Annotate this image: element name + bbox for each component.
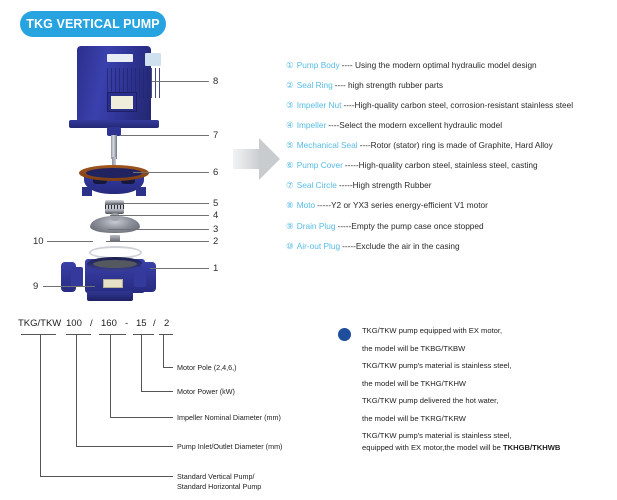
feature-name: Seal Circle [297,181,337,191]
motor-terminal-box [107,92,137,112]
feature-number-icon: ⑦ [286,181,294,191]
feature-item-1: ① Pump Body ---- Using the modern optima… [286,61,616,71]
page-title-bar: TKG VERTICAL PUMP [20,11,166,37]
feature-number-icon: ⑩ [286,242,294,252]
model-label-impeller-dia: Impeller Nominal Diameter (mm) [177,413,281,423]
inlet-flange [61,262,76,292]
model-code-impeller: 160 [101,318,117,329]
feature-number-icon: ⑧ [286,201,294,211]
feature-description: ----Rotor (stator) ring is made of Graph… [360,141,553,151]
callout-line-5 [112,203,209,204]
model-underline-5 [159,334,173,335]
feature-description: ----Select the modern excellent hydrauli… [328,121,502,131]
callout-line-8 [152,81,209,82]
callout-line-1 [150,268,209,269]
model-label-motor-power: Motor Power (kW) [177,387,235,397]
feature-name: Moto [297,201,315,211]
feature-number-icon: ④ [286,121,294,131]
pump-body-nameplate [103,279,123,288]
shaft-part [111,135,117,159]
callout-number-10: 10 [33,237,44,247]
note-line-8-model: TKHGB/TKHWB [503,443,560,452]
impeller-part [90,216,140,233]
model-underline-1 [21,334,56,335]
feature-list: ① Pump Body ---- Using the modern optima… [286,61,616,262]
feature-description: ----High-quality carbon steel, corrosion… [343,101,573,111]
feature-number-icon: ⑨ [286,222,294,232]
feature-item-10: ⑩ Air-out Plug -----Exclude the air in t… [286,242,616,252]
model-designation-diagram: TKG/TKW 100 / 160 - 15 / 2 Motor Pole (2… [0,310,310,490]
feature-item-9: ⑨ Drain Plug -----Empty the pump case on… [286,222,616,232]
variant-notes: TKG/TKW pump equipped with EX motor, the… [338,326,613,461]
feature-name: Seal Ring [297,81,333,91]
model-code-slash-1: / [90,318,93,329]
model-code-prefix: TKG/TKW [18,318,61,329]
model-code-power: 15 [136,318,147,329]
model-label-motor-pole: Motor Pole (2,4,6,) [177,363,237,373]
note-line-1: TKG/TKW pump equipped with EX motor, [362,326,613,335]
feature-number-icon: ⑤ [286,141,294,151]
model-label-standard-vert: Standard Vertical Pump/ [177,472,255,482]
model-drop-line-5 [163,334,164,367]
model-drop-line-1 [40,334,41,476]
note-line-8-text: equipped with EX motor,the model will be [362,443,503,452]
feature-description: ---- high strength rubber parts [335,81,443,91]
feature-name: Drain Plug [297,222,336,232]
callout-number-4: 4 [213,211,218,221]
page-title: TKG VERTICAL PUMP [26,17,159,31]
callout-number-7: 7 [213,131,218,141]
shaft-tip [112,157,116,165]
callout-number-3: 3 [213,225,218,235]
feature-name: Mechanical Seal [297,141,358,151]
model-code-slash-2: / [153,318,156,329]
feature-name: Air-out Plug [297,242,340,252]
pump-cover-leg-right [136,187,146,196]
motor-part [77,46,151,121]
note-line-8: equipped with EX motor,the model will be… [362,443,613,452]
note-line-2: the model will be TKBG/TKBW [362,344,613,353]
feature-item-8: ⑧ Moto -----Y2 or YX3 series energy-effi… [286,201,616,211]
motor-nameplate-secondary [145,53,161,66]
note-line-3: TKG/TKW pump's material is stainless ste… [362,361,613,370]
model-underline-3 [99,334,126,335]
feature-description: -----Y2 or YX3 series energy-efficient V… [317,201,488,211]
pump-cover-part [79,165,149,197]
callout-number-2: 2 [213,237,218,247]
model-label-standard-horiz: Standard Horizontal Pump [177,482,261,492]
callout-line-6 [133,172,209,173]
callout-number-9: 9 [33,282,38,292]
feature-number-icon: ③ [286,101,294,111]
feature-description: -----Exclude the air in the casing [342,242,460,252]
feature-item-6: ⑥ Pump Cover -----High-quality carbon st… [286,161,616,171]
feature-description: ---- Using the modern optimal hydraulic … [342,61,537,71]
feature-name: Impeller [297,121,327,131]
callout-line-7 [120,135,209,136]
callout-line-4 [110,215,209,216]
callout-number-6: 6 [213,168,218,178]
note-line-4: the model will be TKHG/TKHW [362,379,613,388]
feature-name: Pump Cover [297,161,343,171]
motor-nameplate [107,54,133,62]
model-label-inlet-outlet: Pump Inlet/Outlet Diameter (mm) [177,442,282,452]
model-drop-line-3 [110,334,111,417]
feature-item-5: ⑤ Mechanical Seal ----Rotor (stator) rin… [286,141,616,151]
callout-number-5: 5 [213,199,218,209]
model-code-dash: - [125,318,128,329]
pump-cover-leg-left [82,187,92,196]
bullet-dot-icon [338,328,351,341]
note-line-7: TKG/TKW pump's material is stainless ste… [362,431,613,440]
callout-line-2 [106,241,209,242]
model-drop-line-2 [76,334,77,446]
feature-item-4: ④ Impeller ----Select the modern excelle… [286,121,616,131]
feature-item-3: ③ Impeller Nut ----High-quality carbon s… [286,101,616,111]
feature-item-7: ⑦ Seal Circle -----High strength Rubber [286,181,616,191]
feature-description: -----High strength Rubber [339,181,432,191]
note-line-5: TKG/TKW pump delivered the hot water, [362,396,613,405]
feature-description: -----Empty the pump case once stopped [337,222,483,232]
outlet-flange [141,262,156,292]
callout-number-1: 1 [213,264,218,274]
model-drop-line-4 [141,334,142,391]
model-label-line-3 [110,417,173,418]
callout-line-9 [43,286,95,287]
callout-line-3 [108,229,209,230]
model-label-line-2 [76,446,173,447]
model-label-line-1 [40,476,173,477]
model-label-line-5 [163,367,173,368]
model-label-line-4 [141,391,173,392]
note-line-6: the model will be TKRG/TKRW [362,414,613,423]
model-code-inlet: 100 [66,318,82,329]
feature-name: Impeller Nut [297,101,342,111]
model-underline-4 [133,334,154,335]
feature-number-icon: ⑥ [286,161,294,171]
feature-description: -----High-quality carbon steel, stainles… [345,161,538,171]
feature-number-icon: ① [286,61,294,71]
callout-line-10 [47,241,93,242]
feature-item-2: ② Seal Ring ---- high strength rubber pa… [286,81,616,91]
feature-name: Pump Body [297,61,340,71]
callout-number-8: 8 [213,77,218,87]
feature-number-icon: ② [286,81,294,91]
pump-cover-ring [79,165,149,181]
arrow-right-icon [233,138,280,180]
model-underline-2 [66,334,91,335]
model-code-pole: 2 [164,318,169,329]
pump-foot [87,291,133,301]
